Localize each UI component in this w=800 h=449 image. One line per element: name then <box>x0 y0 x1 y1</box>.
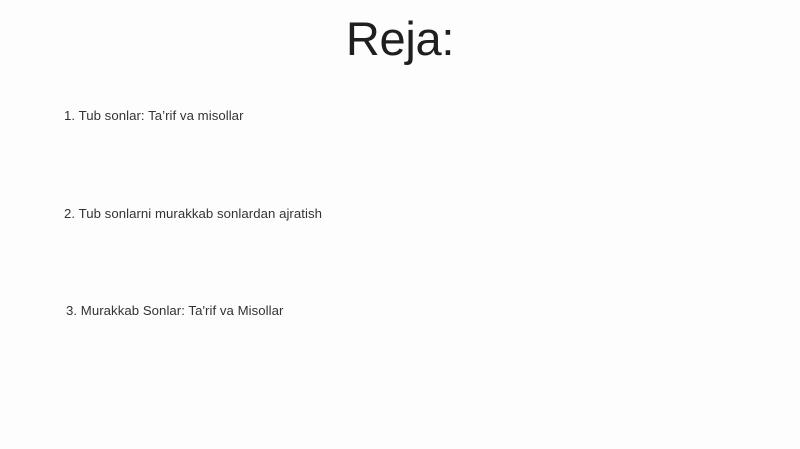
page-title: Reja: <box>0 14 800 65</box>
presentation-slide: Reja: 1. Tub sonlar: Ta’rif va misollar … <box>0 0 800 449</box>
list-item: 1. Tub sonlar: Ta’rif va misollar <box>64 108 724 125</box>
list-item: 3. Murakkab Sonlar: Ta'rif va Misollar <box>66 303 724 320</box>
list-item: 2. Tub sonlarni murakkab sonlardan ajrat… <box>64 206 724 223</box>
agenda-list: 1. Tub sonlar: Ta’rif va misollar 2. Tub… <box>64 108 724 320</box>
